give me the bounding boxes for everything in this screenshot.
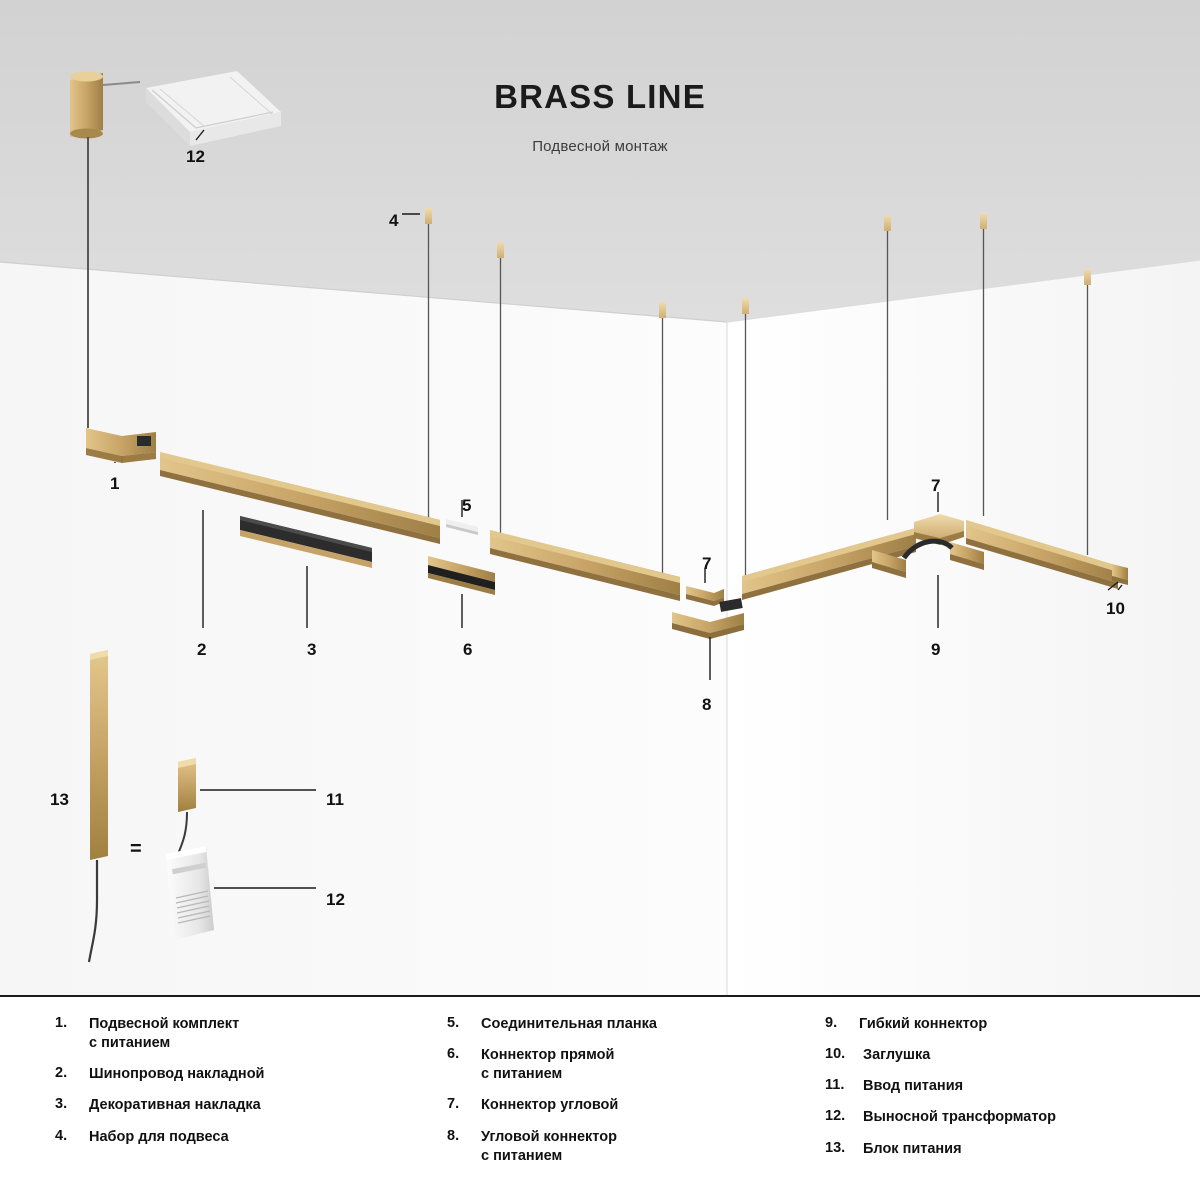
callout-12-mid: 12 — [326, 890, 345, 910]
legend-item-number: 1. — [55, 1015, 89, 1053]
legend-item: 12.Выносной трансформатор — [825, 1108, 1200, 1127]
callout-8: 8 — [702, 695, 711, 715]
callout-6: 6 — [463, 640, 472, 660]
legend-item-number: 8. — [447, 1128, 481, 1166]
legend-item: 5.Соединительная планка — [447, 1015, 785, 1034]
legend-item-label: Гибкий коннектор — [859, 1015, 987, 1034]
legend-item-number: 4. — [55, 1128, 89, 1147]
legend-column-3: 9.Гибкий коннектор10.Заглушка11.Ввод пит… — [785, 997, 1200, 1202]
page-subtitle: Подвесной монтаж — [0, 138, 1200, 155]
legend-item-number: 7. — [447, 1096, 481, 1115]
legend-item-label: Набор для подвеса — [89, 1128, 229, 1147]
callout-3: 3 — [307, 640, 316, 660]
legend-item-number: 3. — [55, 1096, 89, 1115]
callout-7-left: 7 — [702, 554, 711, 574]
callout-10: 10 — [1106, 599, 1125, 619]
callout-7-right: 7 — [931, 476, 940, 496]
legend-item: 13.Блок питания — [825, 1140, 1200, 1159]
callout-9: 9 — [931, 640, 940, 660]
product-scene: BRASS LINE Подвесной монтаж 124157723610… — [0, 0, 1200, 995]
callout-12-top: 12 — [186, 147, 205, 167]
callout-11: 11 — [326, 790, 344, 810]
legend-item: 3.Декоративная накладка — [55, 1096, 400, 1115]
page-title: BRASS LINE — [0, 78, 1200, 116]
legend-item-label: Угловой коннекторс питанием — [481, 1128, 617, 1166]
legend-item-number: 13. — [825, 1140, 863, 1159]
legend-column-1: 1.Подвесной комплектс питанием2.Шинопров… — [0, 997, 400, 1202]
legend-item-label: Коннектор прямойс питанием — [481, 1046, 614, 1084]
legend-column-2: 5.Соединительная планка6.Коннектор прямо… — [400, 997, 785, 1202]
legend-item-label: Соединительная планка — [481, 1015, 657, 1034]
legend-item: 7.Коннектор угловой — [447, 1096, 785, 1115]
legend-item: 6.Коннектор прямойс питанием — [447, 1046, 785, 1084]
legend-item: 8.Угловой коннекторс питанием — [447, 1128, 785, 1166]
legend-item-number: 12. — [825, 1108, 863, 1127]
legend-item-label: Ввод питания — [863, 1077, 963, 1096]
legend-item-label: Декоративная накладка — [89, 1096, 261, 1115]
legend-item: 9.Гибкий коннектор — [825, 1015, 1200, 1034]
legend-panel: 1.Подвесной комплектс питанием2.Шинопров… — [0, 995, 1200, 1200]
legend-item: 10.Заглушка — [825, 1046, 1200, 1065]
legend-item-number: 11. — [825, 1077, 863, 1096]
legend-item-number: 6. — [447, 1046, 481, 1084]
legend-item-number: 2. — [55, 1065, 89, 1084]
legend-item-label: Выносной трансформатор — [863, 1108, 1056, 1127]
callout-13: 13 — [50, 790, 69, 810]
callout-4: 4 — [389, 211, 398, 231]
legend-item-number: 10. — [825, 1046, 863, 1065]
legend-item: 2.Шинопровод накладной — [55, 1065, 400, 1084]
legend-item-label: Заглушка — [863, 1046, 930, 1065]
callout-5: 5 — [462, 496, 471, 516]
legend-item: 1.Подвесной комплектс питанием — [55, 1015, 400, 1053]
legend-item-number: 9. — [825, 1015, 859, 1034]
legend-item-label: Шинопровод накладной — [89, 1065, 264, 1084]
legend-columns: 1.Подвесной комплектс питанием2.Шинопров… — [0, 997, 1200, 1202]
legend-item: 11.Ввод питания — [825, 1077, 1200, 1096]
callout-equals: = — [130, 838, 142, 861]
callout-2: 2 — [197, 640, 206, 660]
legend-item-number: 5. — [447, 1015, 481, 1034]
legend-item-label: Коннектор угловой — [481, 1096, 618, 1115]
callout-1: 1 — [110, 474, 119, 494]
legend-item-label: Блок питания — [863, 1140, 962, 1159]
diagram-page: BRASS LINE Подвесной монтаж 124157723610… — [0, 0, 1200, 1200]
legend-item-label: Подвесной комплектс питанием — [89, 1015, 239, 1053]
legend-item: 4.Набор для подвеса — [55, 1128, 400, 1147]
